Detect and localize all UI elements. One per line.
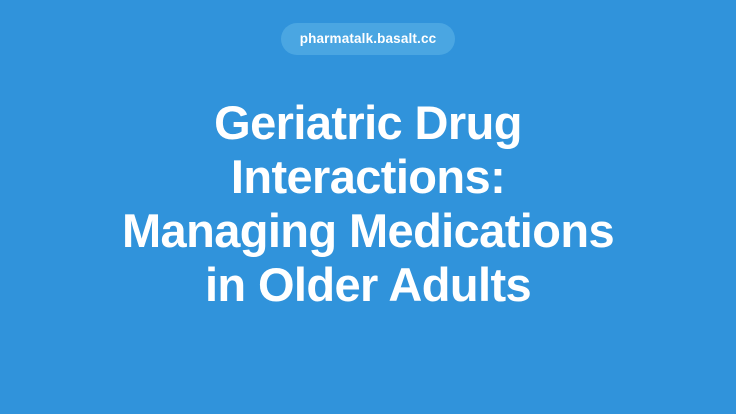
title-line-3: Managing Medications [24,204,712,258]
site-domain-badge: pharmatalk.basalt.cc [281,23,456,55]
title-line-4: in Older Adults [24,258,712,312]
title-line-2: Interactions: [24,150,712,204]
page-title: Geriatric Drug Interactions: Managing Me… [0,96,736,312]
title-slide: pharmatalk.basalt.cc Geriatric Drug Inte… [0,0,736,414]
title-line-1: Geriatric Drug [24,96,712,150]
badge-row: pharmatalk.basalt.cc [0,23,736,55]
